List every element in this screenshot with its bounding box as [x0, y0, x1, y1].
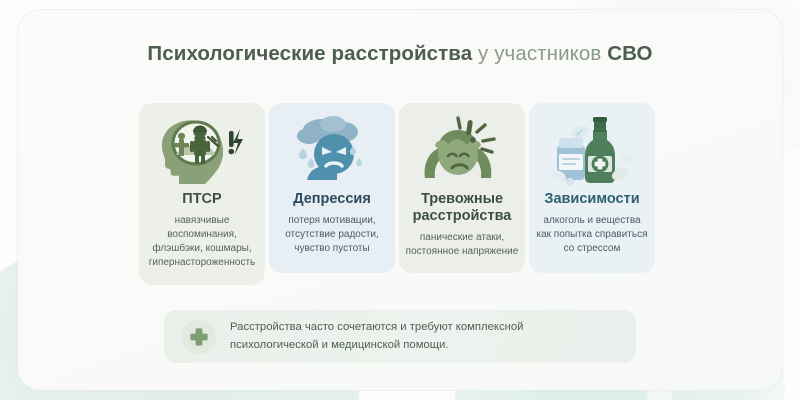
medical-cross-icon — [182, 320, 216, 354]
bottle-and-pills-icon — [535, 113, 649, 187]
card-description: навязчивые воспоминания, флэшбэки, кошма… — [145, 214, 259, 271]
disorder-card-ptsr[interactable]: ПТСР навязчивые воспоминания, флэшбэки, … — [139, 103, 265, 285]
disorder-card-addiction[interactable]: Зависимости алкоголь и вещества как попы… — [529, 103, 655, 273]
summary-note-line-1: Расстройства часто сочетаются и требуют … — [230, 321, 523, 333]
card-heading: Депрессия — [275, 191, 389, 208]
card-description: алкоголь и вещества как попытка справить… — [535, 214, 649, 257]
summary-note-line-2: психологической и медицинской помощи. — [230, 339, 449, 351]
infographic-canvas: Психологические расстройства у участнико… — [0, 0, 800, 400]
sad-face-rain-cloud-icon — [275, 113, 389, 187]
page-title: Психологические расстройства у участнико… — [0, 42, 800, 66]
card-heading: Тревожные расстройства — [405, 191, 519, 225]
card-description: панические атаки, постоянное напряжение — [405, 231, 519, 259]
summary-note-text: Расстройства часто сочетаются и требуют … — [230, 319, 523, 354]
card-heading: ПТСР — [145, 191, 259, 208]
disorder-card-anxiety[interactable]: Тревожные расстройства панические атаки,… — [399, 103, 525, 273]
disorder-card-list: ПТСР навязчивые воспоминания, флэшбэки, … — [139, 103, 661, 285]
page-title-bold-tail: СВО — [607, 42, 652, 65]
card-description: потеря мотивации, отсутствие радости, чу… — [275, 214, 389, 257]
disorder-card-depression[interactable]: Депрессия потеря мотивации, отсутствие р… — [269, 103, 395, 273]
page-title-bold-lead: Психологические расстройства — [147, 42, 472, 65]
stressed-person-icon — [405, 113, 519, 187]
card-heading: Зависимости — [535, 191, 649, 208]
page-title-light-middle: у участников — [478, 42, 601, 65]
summary-note: Расстройства часто сочетаются и требуют … — [164, 310, 636, 363]
head-soldier-icon — [145, 113, 259, 187]
